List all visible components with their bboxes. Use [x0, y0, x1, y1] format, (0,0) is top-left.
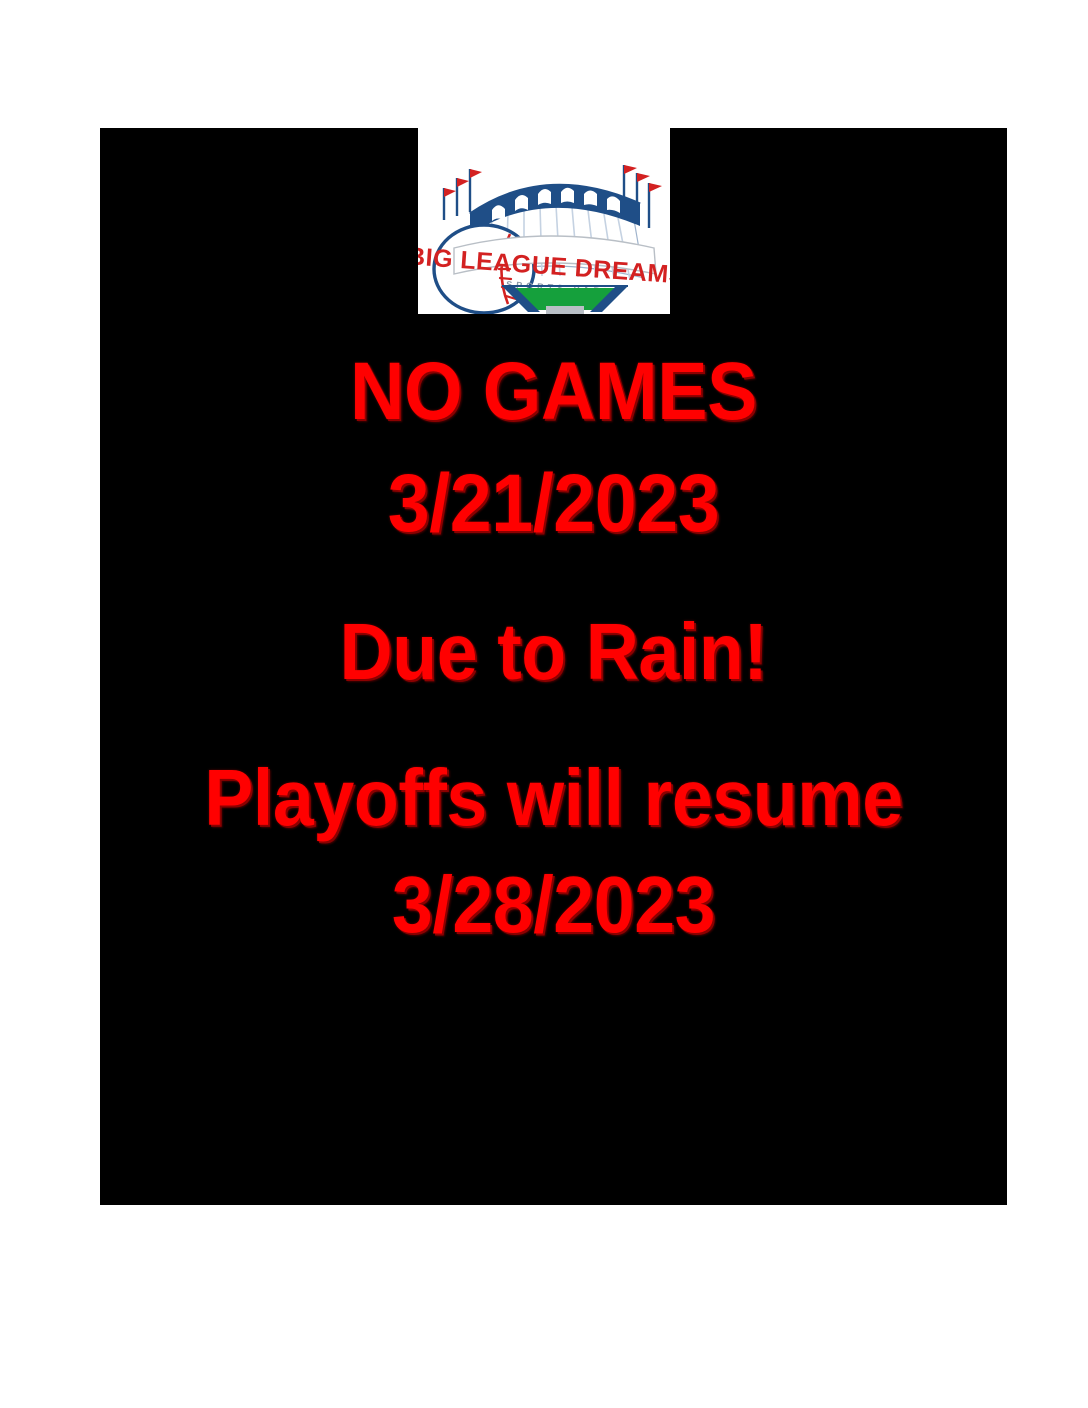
- notice-panel: BIG LEAGUE DREAMS SPORTS PARK NO GAMES 3…: [100, 128, 1007, 1205]
- headline-resume-message: Playoffs will resume: [136, 757, 970, 839]
- logo-artwork: BIG LEAGUE DREAMS SPORTS PARK: [418, 128, 670, 314]
- flyer-page: BIG LEAGUE DREAMS SPORTS PARK NO GAMES 3…: [0, 0, 1088, 1408]
- headline-cancel-date: 3/21/2023: [136, 462, 970, 546]
- headline-no-games: NO GAMES: [136, 350, 970, 434]
- headline-resume-date: 3/28/2023: [136, 864, 970, 946]
- notice-text-block: NO GAMES 3/21/2023 Due to Rain! Playoffs…: [100, 350, 1007, 946]
- headline-reason: Due to Rain!: [136, 611, 970, 693]
- big-league-dreams-logo: BIG LEAGUE DREAMS SPORTS PARK: [418, 128, 670, 314]
